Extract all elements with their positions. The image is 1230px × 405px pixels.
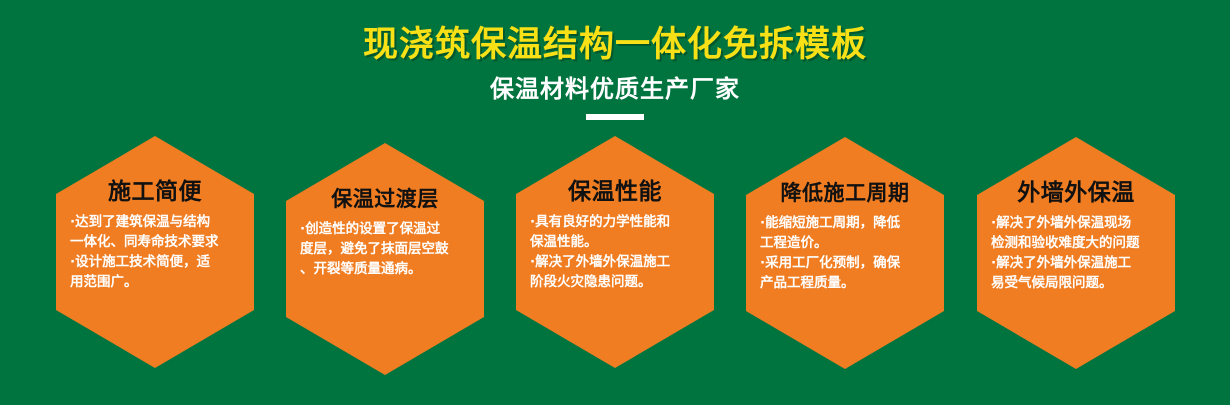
promo-banner: 现浇筑保温结构一体化免拆模板 保温材料优质生产厂家 施工简便 ·达到了建筑保温与… (0, 0, 1230, 405)
feature-body-line: ·解决了外墙外保温施工 (530, 252, 700, 272)
feature-body: ·解决了外墙外保温现场 检测和验收难度大的问题 ·解决了外墙外保温施工 易受气候… (983, 207, 1169, 293)
feature-body: ·达到了建筑保温与结构 一体化、同寿命技术要求 ·设计施工技术简便，适 用范围广… (62, 206, 248, 292)
feature-body: ·创造性的设置了保温过 度层，避免了抹面层空鼓 、开裂等质量通病。 (292, 213, 478, 279)
feature-hexagon-5[interactable]: 外墙外保温 ·解决了外墙外保温现场 检测和验收难度大的问题 ·解决了外墙外保温施… (977, 137, 1175, 369)
feature-body-line: 一体化、同寿命技术要求 (70, 232, 240, 252)
feature-body-line: ·达到了建筑保温与结构 (70, 212, 240, 232)
feature-hexagon-3[interactable]: 保温性能 ·具有良好的力学性能和 保温性能。 ·解决了外墙外保温施工 阶段火灾隐… (516, 136, 714, 368)
feature-hexagon-row: 施工简便 ·达到了建筑保温与结构 一体化、同寿命技术要求 ·设计施工技术简便，适… (0, 0, 1230, 405)
feature-body-line: 工程造价。 (760, 233, 930, 253)
feature-body-line: 保温性能。 (530, 232, 700, 252)
feature-body-line: 、开裂等质量通病。 (300, 259, 470, 279)
feature-body-line: ·设计施工技术简便，适 (70, 252, 240, 272)
feature-title: 保温过渡层 (292, 143, 478, 213)
feature-title: 降低施工周期 (752, 137, 938, 207)
feature-title: 外墙外保温 (983, 137, 1169, 207)
feature-title: 施工简便 (62, 136, 248, 206)
feature-hexagon-1[interactable]: 施工简便 ·达到了建筑保温与结构 一体化、同寿命技术要求 ·设计施工技术简便，适… (56, 136, 254, 368)
feature-body-line: ·解决了外墙外保温现场 (991, 213, 1161, 233)
feature-body-line: ·能缩短施工周期，降低 (760, 213, 930, 233)
feature-body-line: 易受气候局限问题。 (991, 273, 1161, 293)
feature-title: 保温性能 (522, 136, 708, 206)
feature-body-line: ·创造性的设置了保温过 (300, 219, 470, 239)
feature-body-line: 产品工程质量。 (760, 273, 930, 293)
feature-body-line: ·具有良好的力学性能和 (530, 212, 700, 232)
feature-body-line: 检测和验收难度大的问题 (991, 233, 1161, 253)
feature-body-line: ·解决了外墙外保温施工 (991, 253, 1161, 273)
feature-body-line: ·采用工厂化预制，确保 (760, 253, 930, 273)
feature-body-line: 度层，避免了抹面层空鼓 (300, 239, 470, 259)
feature-hexagon-4[interactable]: 降低施工周期 ·能缩短施工周期，降低 工程造价。 ·采用工厂化预制，确保 产品工… (746, 137, 944, 369)
feature-hexagon-2[interactable]: 保温过渡层 ·创造性的设置了保温过 度层，避免了抹面层空鼓 、开裂等质量通病。 (286, 143, 484, 375)
feature-body: ·具有良好的力学性能和 保温性能。 ·解决了外墙外保温施工 阶段火灾隐患问题。 (522, 206, 708, 292)
feature-body-line: 用范围广。 (70, 272, 240, 292)
feature-body-line: 阶段火灾隐患问题。 (530, 272, 700, 292)
feature-body: ·能缩短施工周期，降低 工程造价。 ·采用工厂化预制，确保 产品工程质量。 (752, 207, 938, 293)
